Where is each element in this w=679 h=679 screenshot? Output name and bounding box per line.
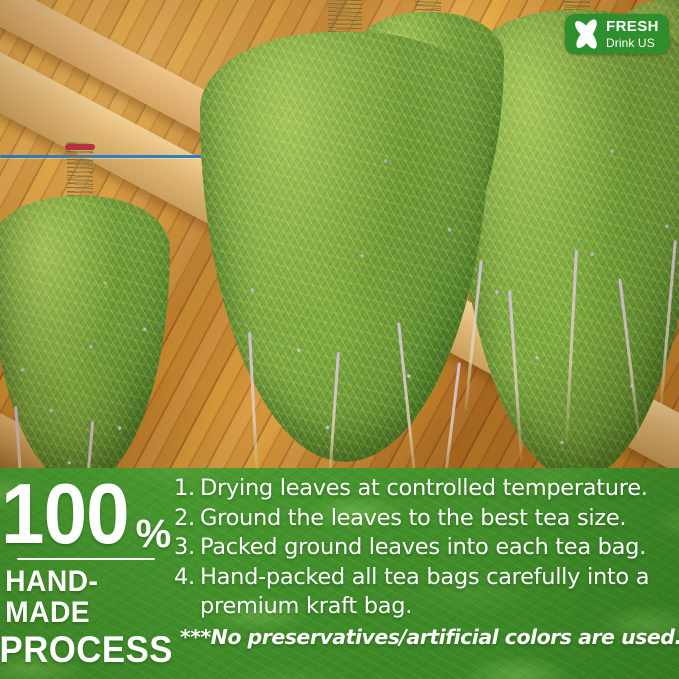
step-number: 2. <box>174 504 200 534</box>
step-text: Packed ground leaves into each tea bag. <box>200 533 675 563</box>
brand-logo-badge[interactable]: FRESH Drink US <box>565 14 669 54</box>
leaf-petal <box>582 31 599 51</box>
process-info-panel: 100 % HAND-MADE PROCESS 1. Drying leaves… <box>0 468 679 679</box>
process-step: 4. Hand-packed all tea bags carefully in… <box>174 563 675 593</box>
process-step-continuation: premium kraft bag. <box>174 592 675 622</box>
brand-logo-text: FRESH Drink US <box>606 19 659 49</box>
hand-made-badge: 100 % HAND-MADE PROCESS <box>0 468 172 679</box>
process-steps-list: 1. Drying leaves at controlled temperatu… <box>174 474 675 651</box>
step-number: 4. <box>174 563 200 593</box>
step-number: 3. <box>174 533 200 563</box>
step-text: Ground the leaves to the best tea size. <box>200 504 675 534</box>
percentage-number: 100 <box>1 476 129 554</box>
brand-name: FRESH <box>606 19 659 34</box>
process-step: 1. Drying leaves at controlled temperatu… <box>174 474 675 504</box>
percent-sign: % <box>136 514 172 554</box>
step-text: premium kraft bag. <box>200 592 675 622</box>
herb-drying-photo: FRESH Drink US <box>0 0 679 470</box>
badge-tagline-line2: PROCESS <box>0 631 173 669</box>
step-text: Drying leaves at controlled temperature. <box>200 474 675 504</box>
brand-tagline: Drink US <box>606 37 659 49</box>
badge-tagline-line1: HAND-MADE <box>5 567 167 628</box>
step-number <box>174 592 200 622</box>
percentage-row: 100 % <box>1 476 171 554</box>
product-infographic: FRESH Drink US 100 % HAND-MADE PROCESS 1… <box>0 0 679 679</box>
process-step: 2. Ground the leaves to the best tea siz… <box>174 504 675 534</box>
badge-divider <box>17 558 155 560</box>
step-text: Hand-packed all tea bags carefully into … <box>200 563 675 593</box>
leaf-cluster-icon <box>570 18 603 51</box>
photo-vignette <box>0 0 679 470</box>
step-number: 1. <box>174 474 200 504</box>
no-preservatives-note: ***No preservatives/artificial colors ar… <box>180 623 675 651</box>
process-step: 3. Packed ground leaves into each tea ba… <box>174 533 675 563</box>
